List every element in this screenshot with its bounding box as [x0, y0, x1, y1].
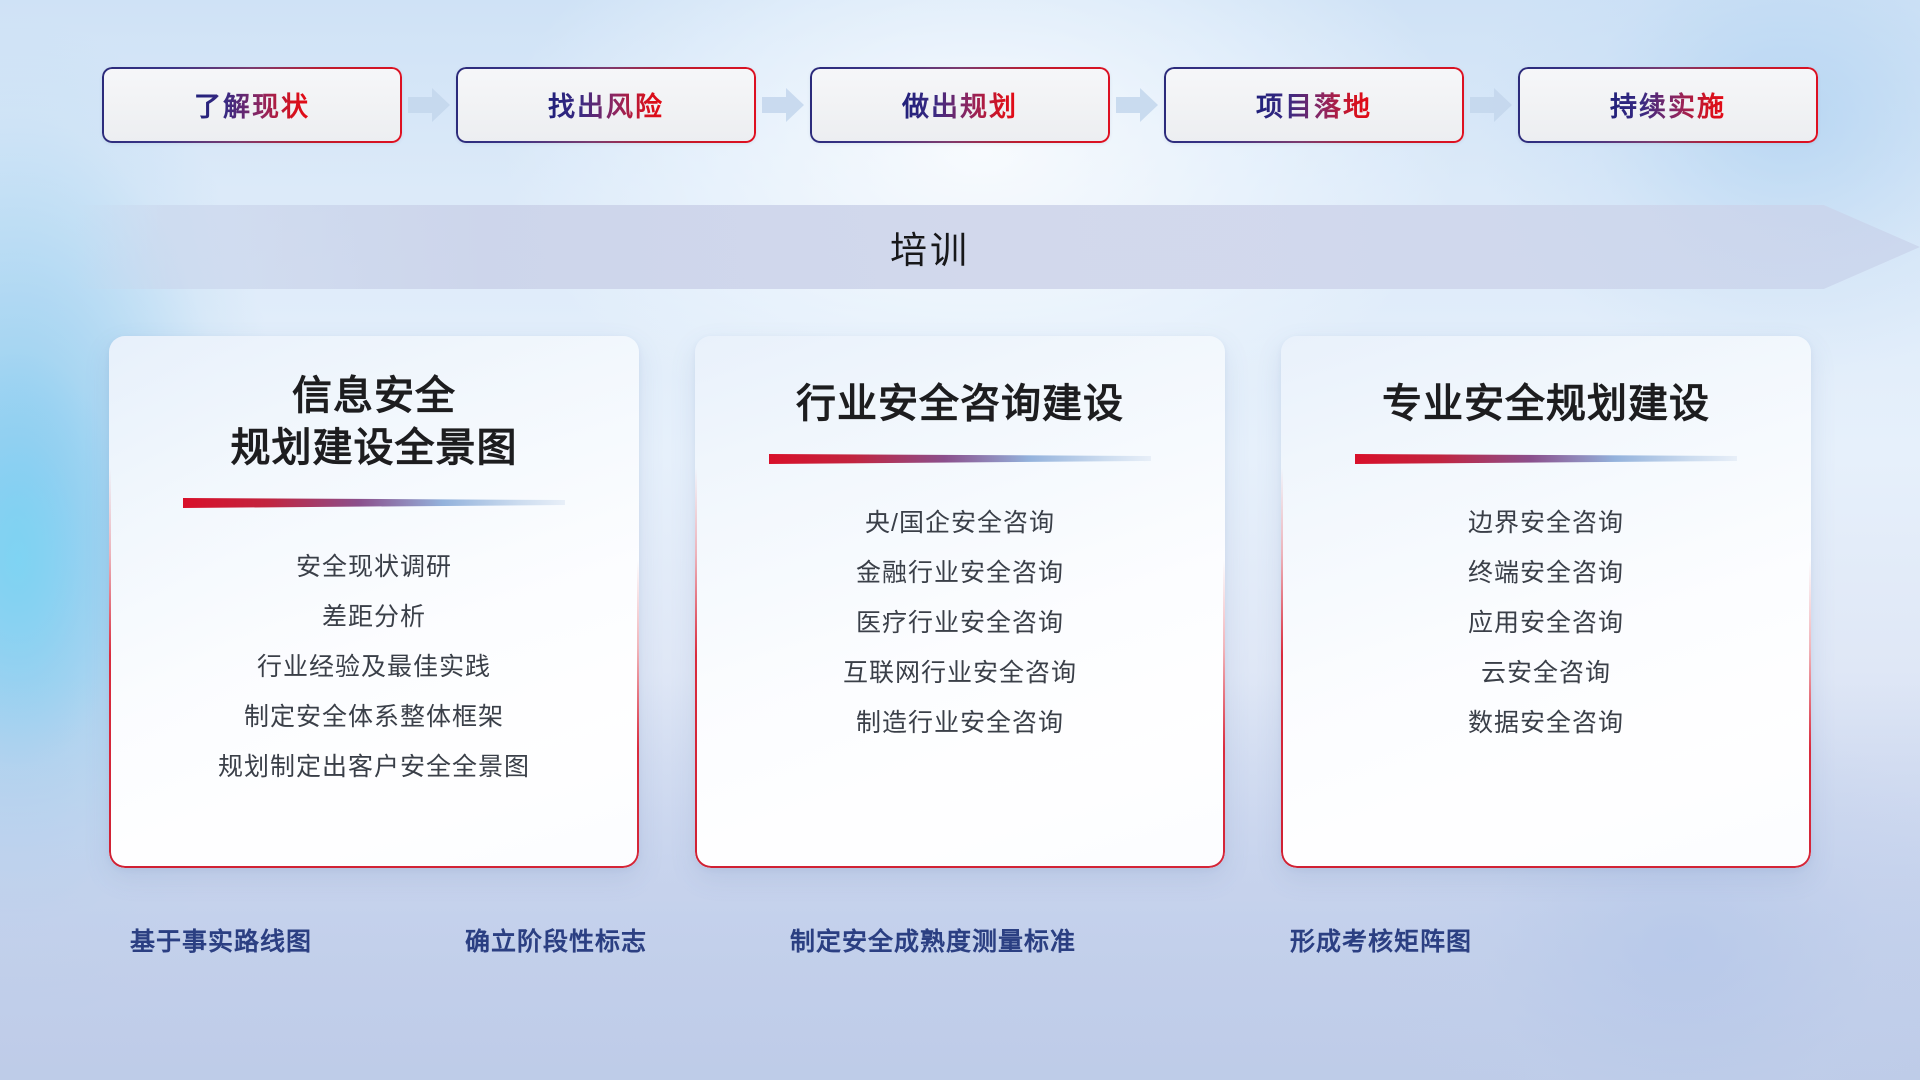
- right-arrow-icon: [1110, 82, 1164, 128]
- list-item: 终端安全咨询: [1468, 548, 1624, 598]
- step-box-3[interactable]: 做出规划: [810, 67, 1110, 143]
- step-label-1: 了解现状: [194, 85, 310, 124]
- step-box-1[interactable]: 了解现状: [102, 67, 402, 143]
- card-list: 安全现状调研 差距分析 行业经验及最佳实践 制定安全体系整体框架 规划制定出客户…: [109, 542, 639, 792]
- step-box-2[interactable]: 找出风险: [456, 67, 756, 143]
- list-item: 云安全咨询: [1481, 648, 1611, 698]
- list-item: 制造行业安全咨询: [856, 698, 1064, 748]
- card-title: 行业安全咨询建设: [796, 378, 1124, 430]
- list-item: 央/国企安全咨询: [865, 498, 1055, 548]
- card-divider: [769, 452, 1151, 468]
- card-title-line: 专业安全规划建设: [1382, 378, 1710, 430]
- training-banner: 培训: [0, 205, 1920, 289]
- card-divider: [1355, 452, 1737, 468]
- list-item: 数据安全咨询: [1468, 698, 1624, 748]
- list-item: 制定安全体系整体框架: [244, 692, 504, 742]
- list-item: 规划制定出客户安全全景图: [218, 742, 530, 792]
- card-info-security-blueprint[interactable]: 信息安全 规划建设全景图: [109, 336, 639, 868]
- card-row: 信息安全 规划建设全景图: [0, 336, 1920, 866]
- process-step-row: 了解现状 找出风险 做出规划 项目落地 持续实施: [0, 62, 1920, 147]
- banner-title: 培训: [0, 205, 1860, 289]
- list-item: 医疗行业安全咨询: [856, 598, 1064, 648]
- list-item: 行业经验及最佳实践: [257, 642, 491, 692]
- step-box-4[interactable]: 项目落地: [1164, 67, 1464, 143]
- step-label-2: 找出风险: [548, 85, 664, 124]
- card-professional-security-planning[interactable]: 专业安全规划建设: [1281, 336, 1811, 868]
- right-arrow-icon: [402, 82, 456, 128]
- card-list: 央/国企安全咨询 金融行业安全咨询 医疗行业安全咨询 互联网行业安全咨询 制造行…: [695, 498, 1225, 748]
- bottom-label-maturity: 制定安全成熟度测量标准: [790, 910, 1076, 970]
- card-industry-security-consulting[interactable]: 行业安全咨询建设: [695, 336, 1225, 868]
- card-title-line: 规划建设全景图: [231, 422, 518, 474]
- card-title-line: 行业安全咨询建设: [796, 378, 1124, 430]
- card-list: 边界安全咨询 终端安全咨询 应用安全咨询 云安全咨询 数据安全咨询: [1281, 498, 1811, 748]
- list-item: 边界安全咨询: [1468, 498, 1624, 548]
- step-box-5[interactable]: 持续实施: [1518, 67, 1818, 143]
- right-arrow-icon: [756, 82, 810, 128]
- bottom-label-matrix: 形成考核矩阵图: [1290, 910, 1472, 970]
- card-divider: [183, 496, 565, 512]
- right-arrow-icon: [1464, 82, 1518, 128]
- card-title-line: 信息安全: [231, 370, 518, 422]
- bottom-label-row: 基于事实路线图 确立阶段性标志 制定安全成熟度测量标准 形成考核矩阵图: [0, 910, 1920, 970]
- list-item: 差距分析: [322, 592, 426, 642]
- step-label-4: 项目落地: [1256, 85, 1372, 124]
- step-label-3: 做出规划: [902, 85, 1018, 124]
- bottom-label-roadmap: 基于事实路线图: [130, 910, 312, 970]
- list-item: 金融行业安全咨询: [856, 548, 1064, 598]
- list-item: 安全现状调研: [296, 542, 452, 592]
- step-label-5: 持续实施: [1610, 85, 1726, 124]
- card-title: 专业安全规划建设: [1382, 378, 1710, 430]
- list-item: 互联网行业安全咨询: [843, 648, 1077, 698]
- card-title: 信息安全 规划建设全景图: [231, 370, 518, 474]
- bottom-label-milestone: 确立阶段性标志: [465, 910, 647, 970]
- list-item: 应用安全咨询: [1468, 598, 1624, 648]
